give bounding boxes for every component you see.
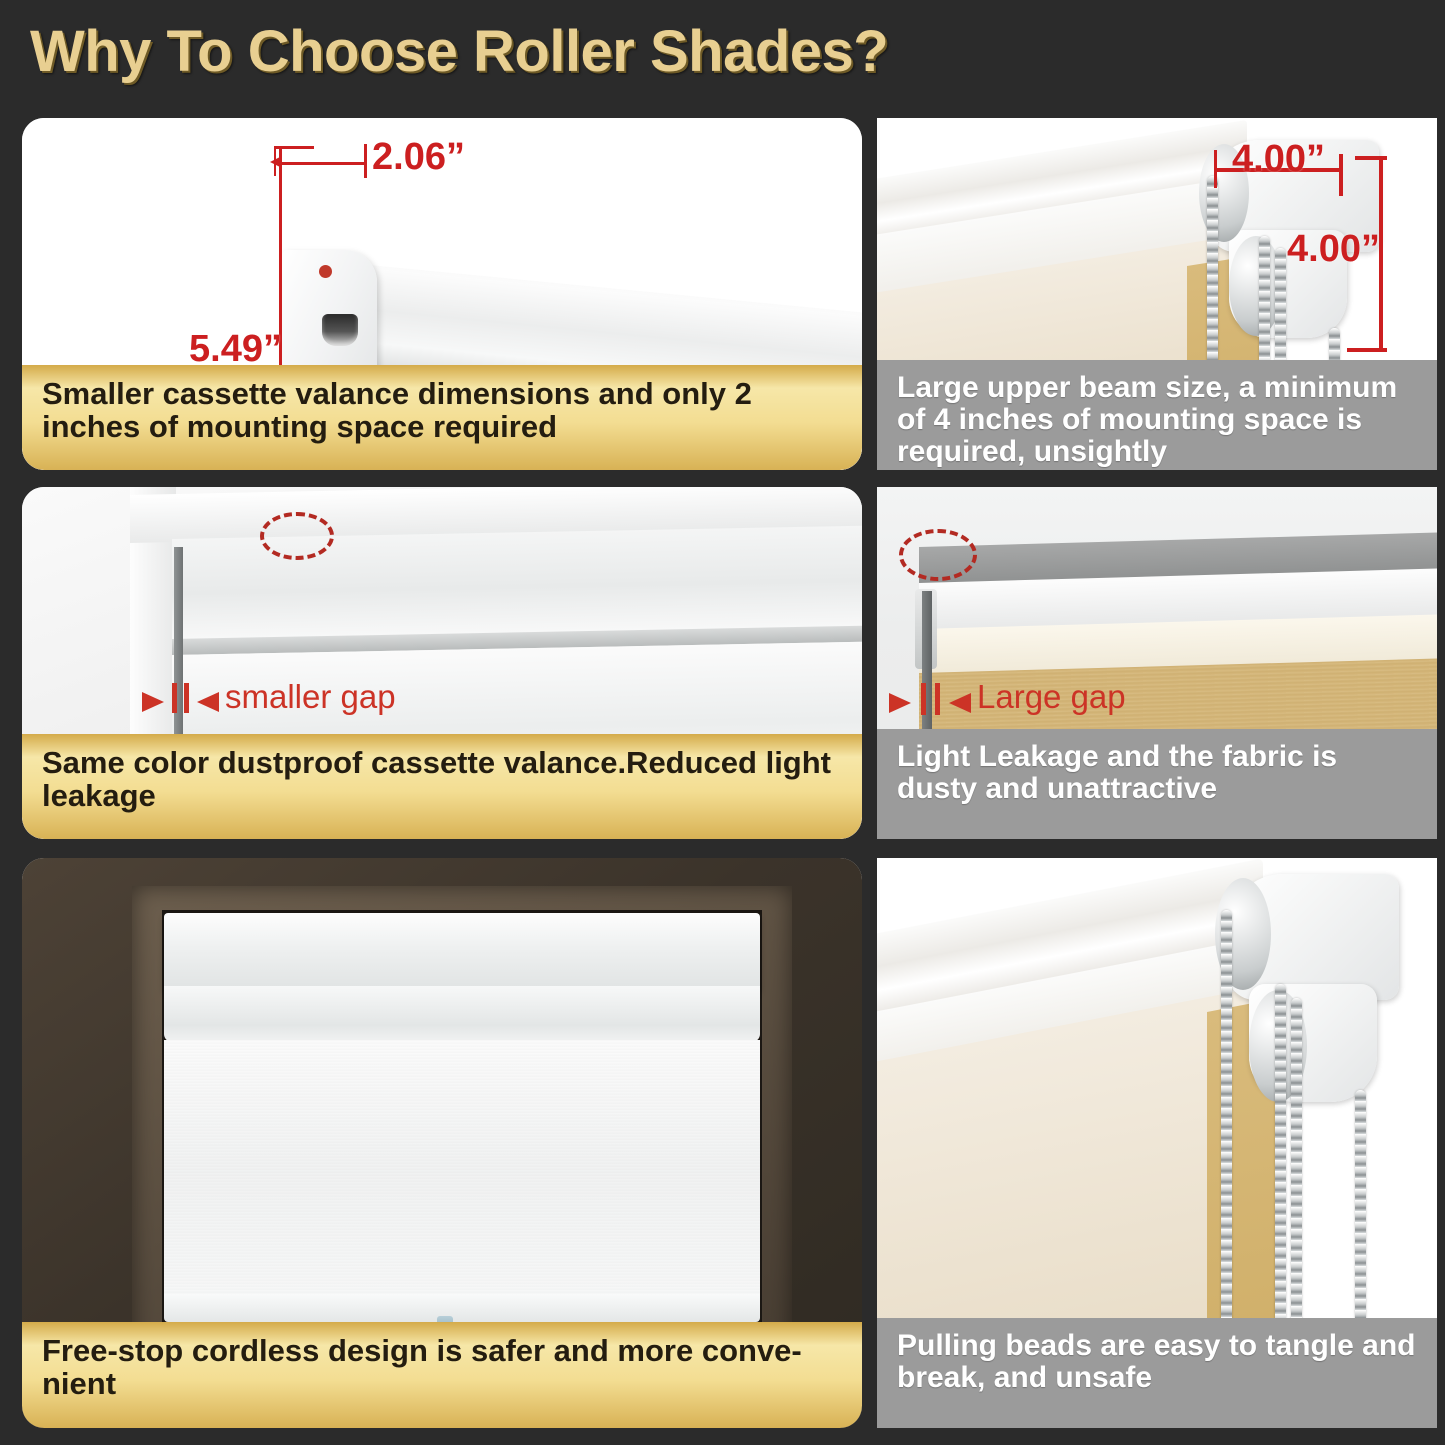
panel-pro-light-leakage: smaller gap Same color dustproof cassett…: [22, 487, 862, 839]
gap-highlight-ring: [899, 529, 977, 581]
gap-label-large: Large gap: [977, 678, 1126, 716]
caption-con-pull-beads: Pulling beads are easy to tangle and bre…: [877, 1318, 1437, 1428]
caption-pro-cordless: Free-stop cordless design is safer and m…: [22, 1322, 862, 1428]
gap-highlight-ring: [260, 512, 334, 560]
dimension-label-beam-height: 4.00”: [1287, 228, 1380, 271]
caption-con-light-leakage: Light Leakage and the fabric is dusty an…: [877, 729, 1437, 839]
panel-con-pull-beads: Pulling beads are easy to tangle and bre…: [877, 858, 1437, 1428]
gap-label-smaller: smaller gap: [225, 678, 396, 716]
page-title: Why To Choose Roller Shades?: [30, 18, 888, 85]
infographic-page: Why To Choose Roller Shades? 2.06” 5.49”…: [0, 0, 1445, 1445]
dimension-label-width: 2.06”: [372, 136, 465, 179]
dimension-label-beam-width: 4.00”: [1232, 138, 1325, 181]
caption-con-beam-size: Large upper beam size, a minimum of 4 in…: [877, 360, 1437, 470]
panel-pro-cordless: Free-stop cordless design is safer and m…: [22, 858, 862, 1428]
panel-con-light-leakage: Large gap Light Leakage and the fabric i…: [877, 487, 1437, 839]
caption-pro-cassette-size: Smaller cassette valance dimensions and …: [22, 365, 862, 470]
panel-pro-cassette-size: 2.06” 5.49” Smaller cassette valance dim…: [22, 118, 862, 470]
caption-pro-light-leakage: Same color dustproof cassette valance.Re…: [22, 734, 862, 839]
panel-con-beam-size: 4.00” 4.00” Large upper beam size, a min…: [877, 118, 1437, 470]
